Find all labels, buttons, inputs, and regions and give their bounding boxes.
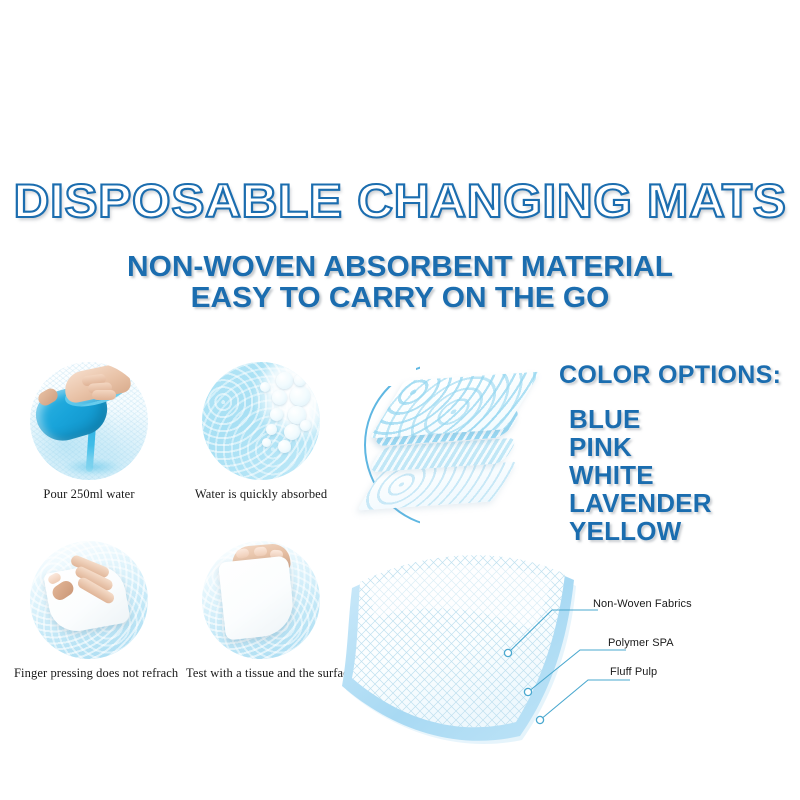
- feature-caption: Test with a tissue and the surface is dr…: [186, 666, 336, 681]
- feature-finger-press: Finger pressing does not refrach: [14, 541, 164, 681]
- layer-structure-image: [356, 356, 552, 536]
- color-option-white: WHITE: [569, 461, 712, 489]
- finger-press-image: [30, 541, 148, 659]
- callout-label-fluff-pulp: Fluff Pulp: [610, 666, 657, 678]
- feature-caption: Finger pressing does not refrach: [14, 666, 164, 681]
- color-option-blue: BLUE: [569, 405, 712, 433]
- bubble: [272, 390, 287, 405]
- subtitle-line-2: EASY TO CARRY ON THE GO: [0, 283, 800, 314]
- feature-tissue-test: Test with a tissue and the surface is dr…: [186, 541, 336, 681]
- color-options-list: BLUE PINK WHITE LAVENDER YELLOW: [569, 405, 712, 545]
- bubble: [278, 440, 291, 453]
- feature-layer-structure: [356, 356, 552, 543]
- mat-svg: [330, 540, 640, 755]
- color-options-heading: COLOR OPTIONS:: [559, 362, 781, 388]
- foam-bubbles: [202, 362, 320, 480]
- infographic-page: DISPOSABLE CHANGING MATS NON-WOVEN ABSOR…: [0, 0, 800, 800]
- callout-label-non-woven-fabrics: Non-Woven Fabrics: [593, 598, 692, 610]
- feature-quick-absorb: Water is quickly absorbed: [186, 362, 336, 502]
- pour-water-image: [30, 362, 148, 480]
- bubble: [284, 424, 300, 440]
- feature-pour-water: Pour 250ml water: [14, 362, 164, 502]
- bubble: [266, 424, 277, 435]
- tissue-test-image: [202, 541, 320, 659]
- feature-caption: Water is quickly absorbed: [186, 487, 336, 502]
- color-option-lavender: LAVENDER: [569, 489, 712, 517]
- subtitle-block: NON-WOVEN ABSORBENT MATERIAL EASY TO CAR…: [0, 252, 800, 314]
- bubble: [276, 372, 293, 389]
- bubble: [260, 382, 270, 392]
- subtitle-line-1: NON-WOVEN ABSORBENT MATERIAL: [127, 251, 673, 283]
- callout-marker-polymer-spa: [524, 688, 531, 695]
- bubble: [270, 408, 283, 421]
- bubble: [300, 420, 311, 431]
- bubble: [290, 386, 310, 406]
- feature-caption: Pour 250ml water: [14, 487, 164, 502]
- callout-marker-fluff-pulp: [536, 716, 543, 723]
- callout-marker-non-woven-fabrics: [504, 649, 511, 656]
- page-title: DISPOSABLE CHANGING MATS: [0, 176, 800, 226]
- quick-absorb-image: [202, 362, 320, 480]
- bubble: [294, 374, 306, 386]
- callout-label-polymer-spa: Polymer SPA: [608, 637, 674, 649]
- bubble: [262, 438, 271, 447]
- product-mat-illustration: [330, 540, 640, 755]
- color-option-pink: PINK: [569, 433, 712, 461]
- finger: [92, 390, 116, 400]
